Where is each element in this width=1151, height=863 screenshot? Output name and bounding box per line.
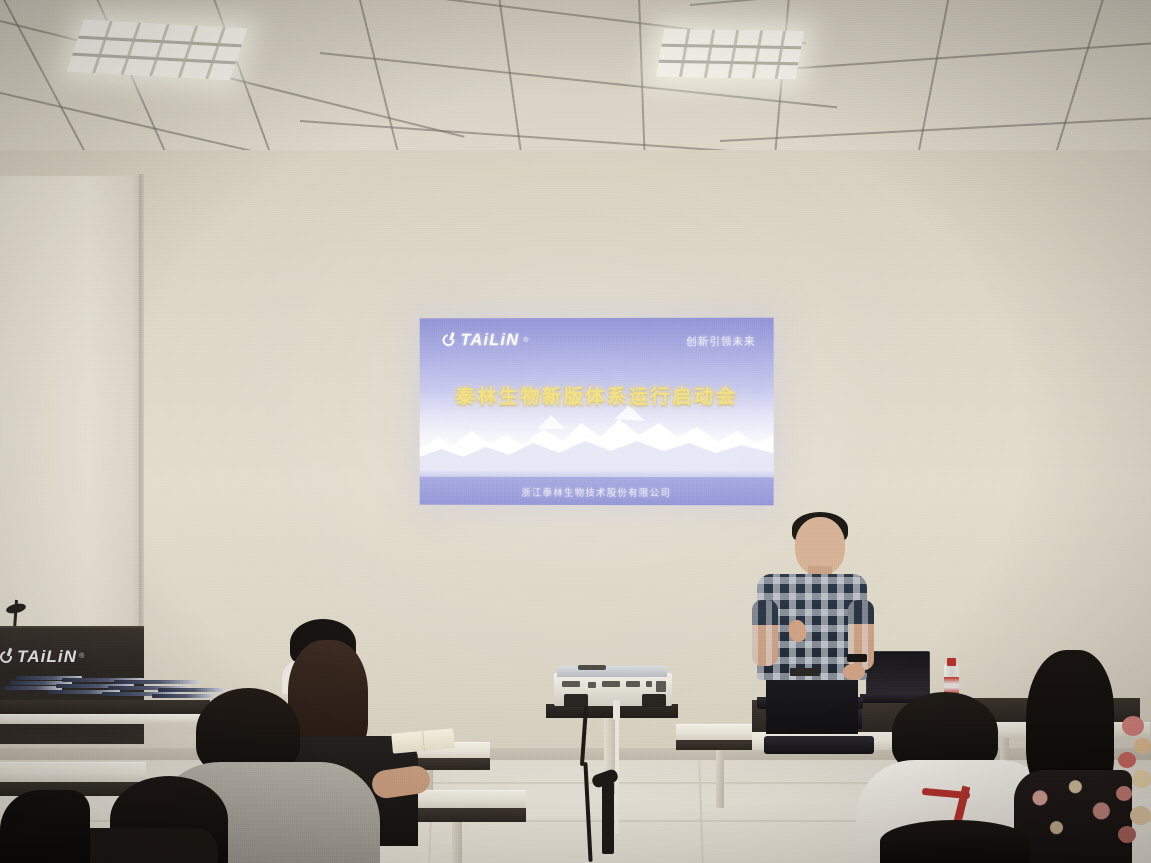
podium-logo-trademark: ® — [79, 653, 84, 660]
ceiling-light-right — [656, 29, 804, 79]
desk-back-left — [0, 714, 210, 724]
desk-mid-left — [0, 762, 146, 782]
presenter-left-arm — [752, 600, 778, 666]
projector-foot-left — [564, 694, 588, 707]
projected-slide: TAiLiN ® 创新引领未来 泰林生物新版体系运行启动会 浙江泰林生物技术股份… — [420, 318, 774, 506]
slide-tagline: 创新引领未来 — [686, 334, 755, 349]
presenter-right-hand — [843, 664, 865, 680]
projector-top-shell — [557, 666, 667, 677]
slide-title: 泰林生物新版体系运行启动会 — [420, 380, 774, 409]
vga-cable — [613, 700, 620, 720]
wall-corner-edge — [139, 174, 144, 648]
lower-laptop-case — [764, 736, 874, 754]
slide-company-name: 浙江泰林生物技术股份有限公司 — [420, 485, 774, 500]
photo-scene: TAiLiN ® 创新引领未来 泰林生物新版体系运行启动会 浙江泰林生物技术股份… — [0, 0, 1151, 863]
desk-leg — [716, 750, 724, 808]
podium-logo: TAiLiN ® — [0, 648, 84, 665]
projector-handle — [578, 665, 606, 670]
slide-logo: TAiLiN ® — [442, 332, 529, 349]
projector-foot-right — [642, 694, 666, 707]
stand-base-post — [602, 782, 614, 854]
presenter-trousers — [766, 672, 858, 734]
presenter-belt — [790, 668, 820, 676]
desk-leg — [452, 822, 462, 863]
podium-logo-text: TAiLiN — [17, 648, 77, 665]
side-laptop-lid[interactable] — [866, 651, 930, 695]
presenter-wristwatch — [847, 654, 867, 662]
desk-back-left-top — [0, 700, 210, 714]
desk-center-left-lower — [408, 790, 526, 808]
desk-center-left-lower-front — [408, 808, 526, 822]
tailin-droplet-icon — [442, 332, 458, 348]
tailin-droplet-icon — [0, 649, 15, 664]
water-bottle-cap — [947, 658, 956, 666]
left-wall-panel — [0, 176, 143, 646]
slide-logo-text: TAiLiN — [460, 332, 519, 349]
slide-logo-trademark: ® — [523, 337, 528, 344]
ceiling-light-left — [67, 20, 248, 81]
floral-top — [1014, 770, 1132, 863]
